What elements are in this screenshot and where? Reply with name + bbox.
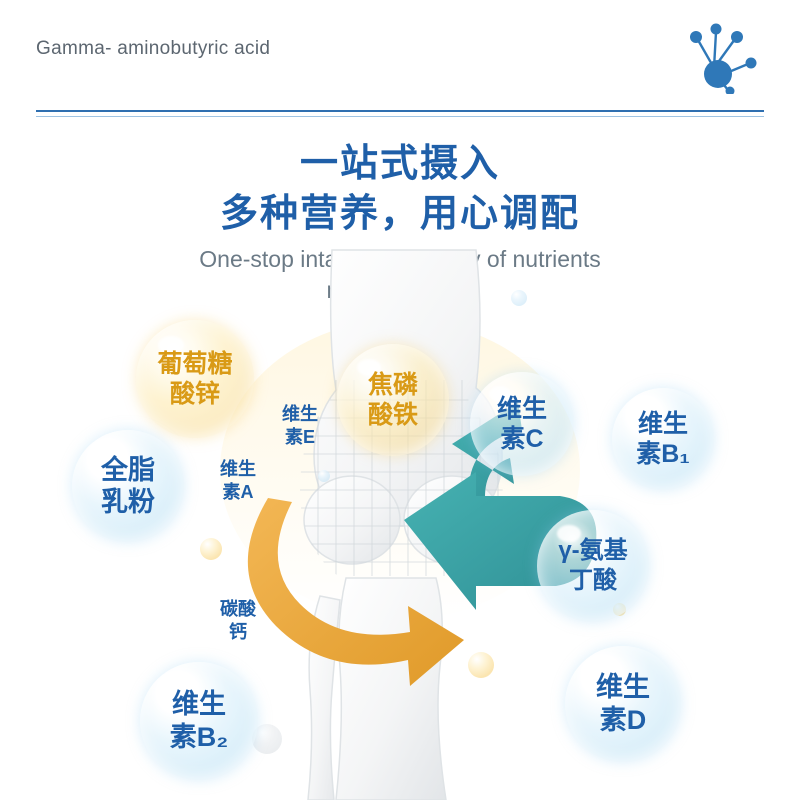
header-divider-secondary xyxy=(36,116,764,117)
bubble-vitamin-b2[interactable]: 维生 素B₂ xyxy=(140,662,258,780)
header: Gamma- aminobutyric acid xyxy=(0,0,800,112)
headline-cn-line2: 多种营养，用心调配 xyxy=(0,188,800,240)
bubble-label-ferric-pyrophosphate: 焦磷 酸铁 xyxy=(368,370,418,430)
droplet-blue-top xyxy=(511,290,527,306)
gold-arrow xyxy=(248,498,464,686)
headline-en-line1: One-stop intake of a variety of nutrient… xyxy=(0,244,800,275)
label-vitamin-a: 维生 素A xyxy=(208,458,268,504)
headline-block: 一站式摄入 多种营养，用心调配 One-stop intake of a var… xyxy=(0,140,800,306)
bubble-vitamin-c[interactable]: 维生 素C xyxy=(470,372,574,476)
bubble-ferric-pyrophosphate[interactable]: 焦磷 酸铁 xyxy=(337,344,449,456)
droplet-blue-small xyxy=(318,470,330,482)
bubble-vitamin-b1[interactable]: 维生 素B₁ xyxy=(612,388,714,490)
droplet-gold-left xyxy=(200,538,222,560)
headline-cn-line1: 一站式摄入 xyxy=(0,140,800,188)
bubble-label-gaba: γ-氨基 丁酸 xyxy=(558,536,627,596)
molecule-icon xyxy=(680,18,760,94)
header-divider xyxy=(36,110,764,112)
headline-en-line2: mindful mixing xyxy=(0,275,800,306)
label-calcium-carbonate: 碳酸 钙 xyxy=(208,598,268,644)
bubble-label-vitamin-d: 维生 素D xyxy=(596,671,650,737)
bubble-label-zinc-gluconate: 葡萄糖 酸锌 xyxy=(157,349,232,409)
poster-page: Gamma- aminobutyric acid xyxy=(0,0,800,800)
bubble-label-vitamin-b1: 维生 素B₁ xyxy=(636,409,689,469)
bubble-label-vitamin-b2: 维生 素B₂ xyxy=(170,688,229,754)
bubble-vitamin-d[interactable]: 维生 素D xyxy=(565,646,681,762)
bubble-gaba[interactable]: γ-氨基 丁酸 xyxy=(537,510,649,622)
brand-title: Gamma- aminobutyric acid xyxy=(36,36,366,62)
droplet-gold-right xyxy=(468,652,494,678)
bubble-label-whole-milk-powder: 全脂 乳粉 xyxy=(101,454,155,518)
bubble-label-vitamin-c: 维生 素C xyxy=(497,394,547,454)
bubble-whole-milk-powder[interactable]: 全脂 乳粉 xyxy=(72,430,184,542)
bubble-zinc-gluconate[interactable]: 葡萄糖 酸锌 xyxy=(136,320,254,438)
label-vitamin-e: 维生 素E xyxy=(270,403,330,449)
